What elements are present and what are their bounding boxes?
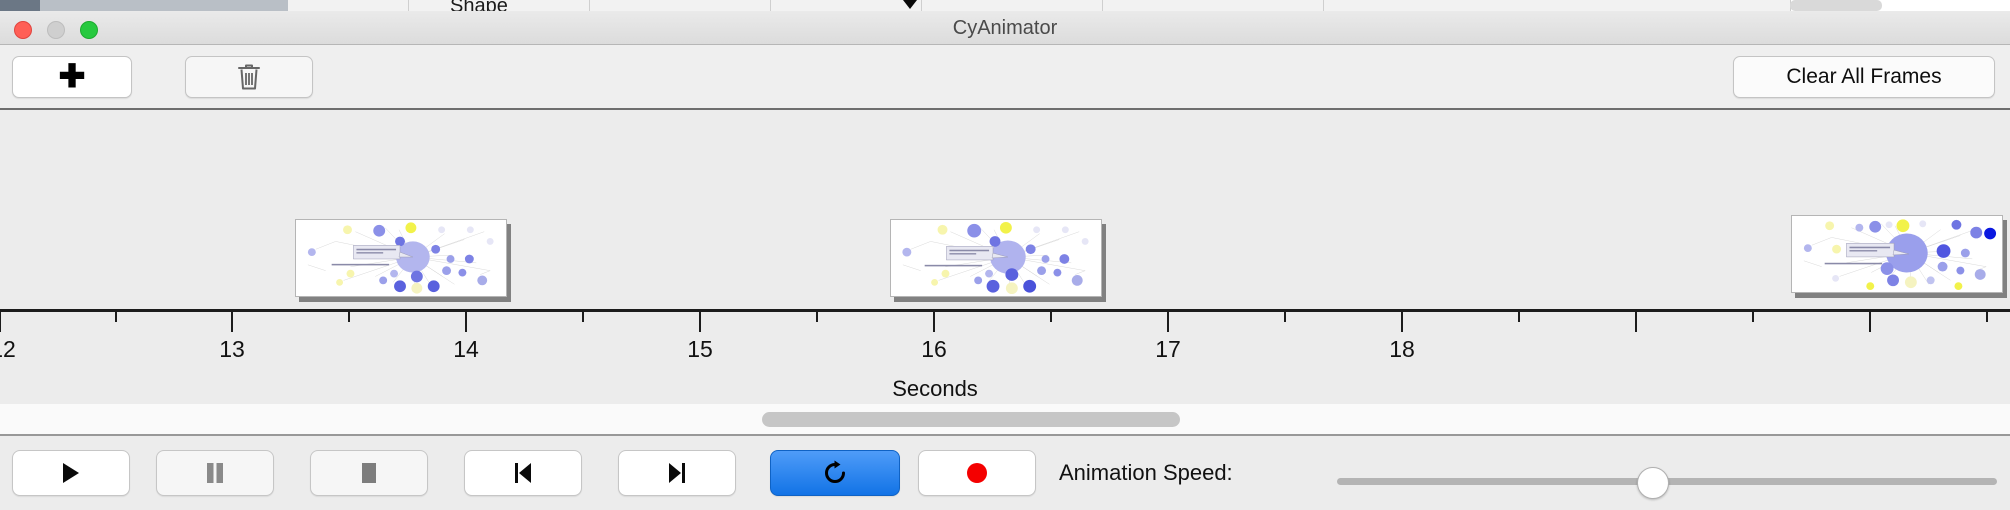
axis-tick-label: 18 bbox=[1389, 336, 1415, 363]
pause-icon bbox=[204, 461, 226, 485]
axis-tick-major bbox=[1635, 312, 1637, 332]
loop-button[interactable] bbox=[770, 450, 900, 496]
clear-all-frames-button[interactable]: Clear All Frames bbox=[1733, 56, 1995, 98]
background-toolbar bbox=[40, 0, 288, 11]
timeline-frame-thumbnail[interactable] bbox=[890, 219, 1102, 297]
animation-speed-slider-thumb[interactable] bbox=[1637, 467, 1669, 499]
background-cell bbox=[288, 0, 409, 11]
plus-icon: ✚ bbox=[59, 60, 86, 92]
stop-icon bbox=[358, 461, 380, 485]
skip-back-icon bbox=[512, 461, 534, 485]
timeline-scrollbar[interactable] bbox=[0, 404, 2010, 436]
clear-all-frames-label: Clear All Frames bbox=[1786, 65, 1941, 89]
axis-tick-label: 17 bbox=[1155, 336, 1181, 363]
previous-frame-button[interactable] bbox=[464, 450, 582, 496]
axis-tick-major bbox=[933, 312, 935, 332]
axis-tick-minor bbox=[1518, 312, 1520, 322]
background-cell bbox=[1324, 0, 1791, 11]
play-button[interactable] bbox=[12, 450, 130, 496]
network-thumbnail-icon bbox=[1792, 216, 2002, 292]
axis-tick-major bbox=[1869, 312, 1871, 332]
playback-bar: Animation Speed: bbox=[0, 436, 2010, 510]
next-frame-button[interactable] bbox=[618, 450, 736, 496]
skip-forward-icon bbox=[666, 461, 688, 485]
background-shape-label: Shape bbox=[450, 0, 508, 11]
animation-speed-label: Animation Speed: bbox=[1059, 436, 1233, 510]
axis-tick-minor bbox=[1284, 312, 1286, 322]
axis-tick-major bbox=[231, 312, 233, 332]
delete-frame-button[interactable] bbox=[185, 56, 313, 98]
add-frame-button[interactable]: ✚ bbox=[12, 56, 132, 98]
axis-tick-major bbox=[1167, 312, 1169, 332]
axis-tick-major bbox=[699, 312, 701, 332]
axis-tick-label: 12 bbox=[0, 336, 16, 363]
title-bar: CyAnimator bbox=[0, 11, 2010, 45]
axis-tick-minor bbox=[816, 312, 818, 322]
background-cell bbox=[922, 0, 1103, 11]
axis-tick-minor bbox=[348, 312, 350, 322]
scrollbar-thumb[interactable] bbox=[762, 412, 1180, 427]
loop-icon bbox=[822, 460, 848, 486]
stop-button[interactable] bbox=[310, 450, 428, 496]
axis-tick-label: 15 bbox=[687, 336, 713, 363]
axis-tick-major bbox=[0, 312, 1, 332]
timeline-frame-thumbnail[interactable] bbox=[1791, 215, 2003, 293]
timeline-panel[interactable]: 12 13 14 15 16 17 18 Seconds bbox=[0, 110, 2010, 404]
timeline-axis bbox=[0, 309, 2010, 312]
pause-button[interactable] bbox=[156, 450, 274, 496]
axis-tick-label: 13 bbox=[219, 336, 245, 363]
cyanimator-window: Shape CyAnimator ✚ bbox=[0, 0, 2010, 510]
play-icon bbox=[60, 461, 82, 485]
timeline-frame-thumbnail[interactable] bbox=[295, 219, 507, 297]
network-thumbnail-icon bbox=[891, 220, 1101, 296]
background-sort-arrow-icon bbox=[903, 0, 917, 9]
axis-title: Seconds bbox=[0, 376, 2010, 402]
axis-tick-major bbox=[465, 312, 467, 332]
axis-tick-minor bbox=[1050, 312, 1052, 322]
axis-tick-minor bbox=[115, 312, 117, 322]
record-button[interactable] bbox=[918, 450, 1036, 496]
background-cell bbox=[1103, 0, 1324, 11]
axis-tick-minor bbox=[582, 312, 584, 322]
background-scrollbar bbox=[1790, 0, 1882, 11]
axis-tick-minor bbox=[1752, 312, 1754, 322]
background-cell bbox=[590, 0, 771, 11]
trash-icon bbox=[237, 63, 261, 91]
axis-tick-label: 14 bbox=[453, 336, 479, 363]
axis-tick-major bbox=[1401, 312, 1403, 332]
network-thumbnail-icon bbox=[296, 220, 506, 296]
background-window-strip: Shape bbox=[0, 0, 2010, 11]
axis-tick-label: 16 bbox=[921, 336, 947, 363]
background-cell bbox=[771, 0, 922, 11]
toolbar: ✚ Clear All Frames bbox=[0, 45, 2010, 110]
window-title: CyAnimator bbox=[0, 11, 2010, 45]
record-icon bbox=[965, 461, 989, 485]
axis-tick-minor bbox=[1986, 312, 1988, 322]
background-sidebar bbox=[0, 0, 40, 11]
